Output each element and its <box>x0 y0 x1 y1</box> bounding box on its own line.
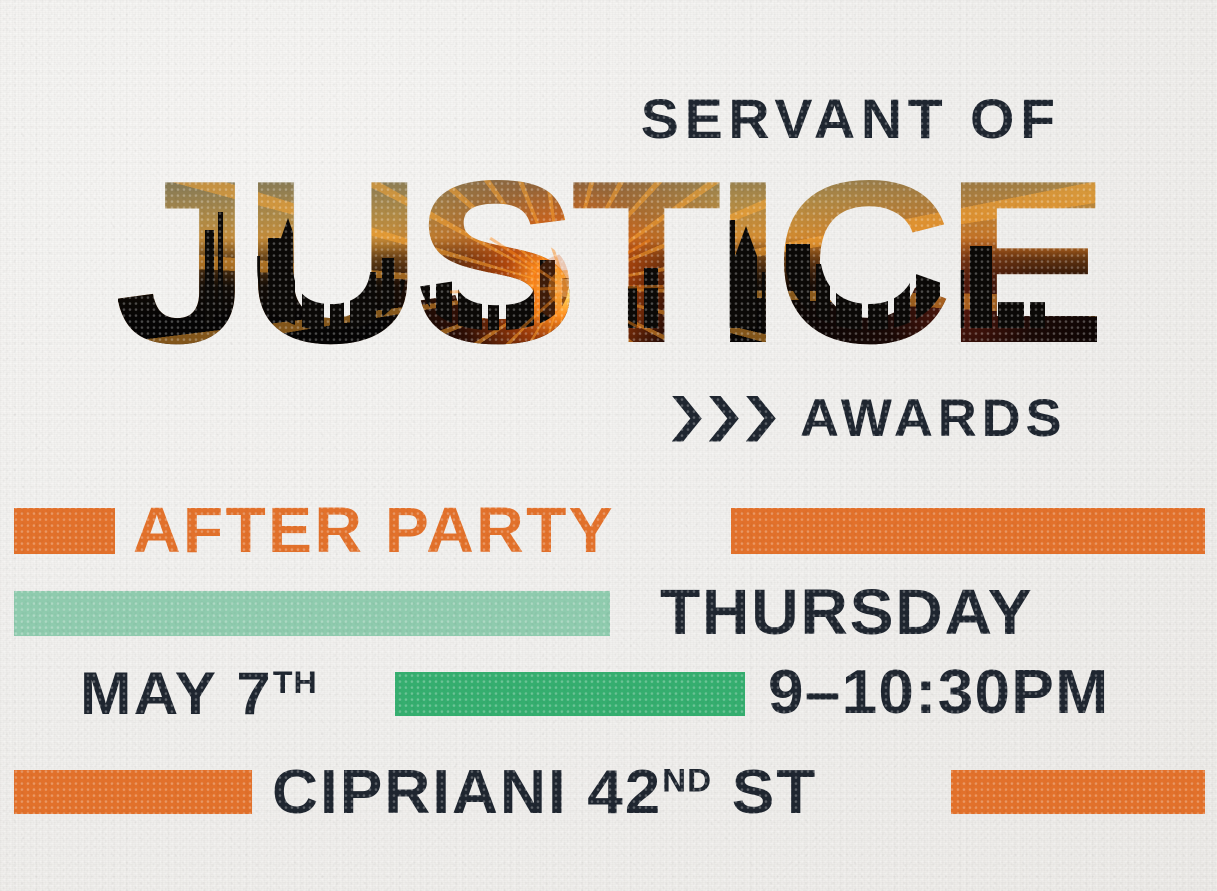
date-month-day: MAY 7 <box>80 660 273 727</box>
date-ordinal: TH <box>273 665 318 700</box>
bar-after-party-right <box>731 508 1205 554</box>
bar-venue-right <box>951 770 1205 814</box>
chevron-right-icon <box>672 396 702 442</box>
chevron-right-icon <box>746 396 776 442</box>
chevron-group <box>672 396 776 442</box>
venue-name: CIPRIANI 42 <box>272 758 662 827</box>
poster-canvas: SERVANT OF JUSTICE JUSTICE <box>0 0 1217 891</box>
time-label: 9–10:30PM <box>768 662 1110 724</box>
venue-label: CIPRIANI 42ND ST <box>272 762 817 824</box>
bar-thursday <box>14 591 610 636</box>
awards-label: AWARDS <box>800 392 1066 445</box>
venue-suffix: ST <box>732 758 817 827</box>
after-party-label: AFTER PARTY <box>133 498 615 562</box>
date-label: MAY 7TH <box>80 664 318 724</box>
venue-ordinal: ND <box>662 762 712 798</box>
day-label: THURSDAY <box>660 580 1033 644</box>
venue-suffix-space <box>712 758 732 827</box>
bar-date <box>395 672 745 716</box>
justice-wordmark-text: JUSTICE <box>118 160 1097 365</box>
awards-row: AWARDS <box>672 392 1061 445</box>
bar-after-party-left <box>14 508 115 554</box>
chevron-right-icon <box>709 396 739 442</box>
bar-venue-left <box>14 770 252 814</box>
justice-wordmark: JUSTICE JUSTICE <box>150 160 1065 365</box>
